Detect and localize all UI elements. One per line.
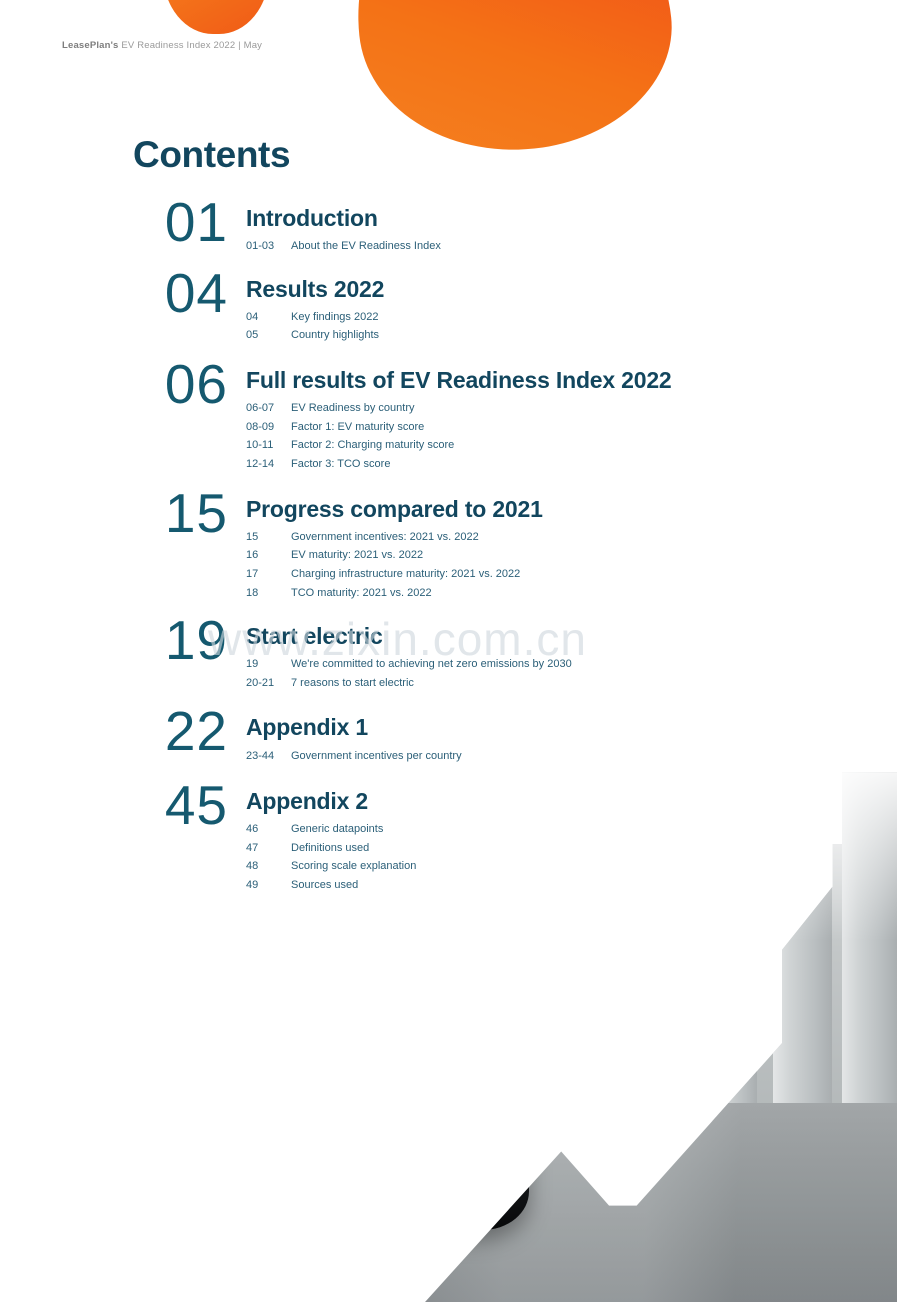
toc-section-title[interactable]: Appendix 2 [246,789,920,813]
toc-entry-pages: 12-14 [246,455,291,474]
running-header-rest: EV Readiness Index 2022 | May [119,40,263,51]
toc-entry-label: Generic datapoints [291,820,920,839]
toc-entry[interactable]: 48Scoring scale explanation [246,857,920,876]
toc-entry[interactable]: 23-44Government incentives per country [246,747,920,766]
car-roof-reflection [224,1029,502,1060]
toc-section-number: 06 [0,358,228,411]
toc-section[interactable]: 15Progress compared to 202115Government … [0,487,920,603]
document-page: LeasePlan's EV Readiness Index 2022 | Ma… [0,0,920,1302]
toc-entry-label: Scoring scale explanation [291,857,920,876]
toc-entry-label: Sources used [291,876,920,895]
toc-entry[interactable]: 04Key findings 2022 [246,308,920,327]
toc-section-body: Appendix 246Generic datapoints47Definiti… [228,779,920,895]
toc-section-number: 19 [0,614,228,667]
toc-section-body: Results 202204Key findings 202205Country… [228,267,920,345]
toc-entry[interactable]: 18TCO maturity: 2021 vs. 2022 [246,584,920,603]
orange-blob-large-icon [343,0,684,166]
toc-entry-pages: 17 [246,565,291,584]
toc-entry[interactable]: 15Government incentives: 2021 vs. 2022 [246,528,920,547]
toc-entry-pages: 19 [246,655,291,674]
toc-entry-label: We're committed to achieving net zero em… [291,655,920,674]
toc-entry-label: TCO maturity: 2021 vs. 2022 [291,584,920,603]
toc-entry-label: Factor 2: Charging maturity score [291,436,920,455]
toc-section-body: Appendix 123-44Government incentives per… [228,705,920,765]
toc-entry[interactable]: 49Sources used [246,876,920,895]
toc-entry[interactable]: 16EV maturity: 2021 vs. 2022 [246,546,920,565]
toc-entry-pages: 48 [246,857,291,876]
toc-section-title[interactable]: Results 2022 [246,277,920,301]
toc-entry-label: About the EV Readiness Index [291,237,920,256]
toc-section-body: Progress compared to 202115Government in… [228,487,920,603]
license-plate: L-546-XX [307,1173,418,1189]
toc-entry-pages: 15 [246,528,291,547]
toc-section-number: 45 [0,779,228,832]
toc-entry[interactable]: 46Generic datapoints [246,820,920,839]
toc-entry[interactable]: 01-03About the EV Readiness Index [246,237,920,256]
garage-floor [0,1103,920,1302]
toc-entry-label: Factor 1: EV maturity score [291,418,920,437]
toc-entry[interactable]: 05Country highlights [246,326,920,345]
toc-entry-label: Government incentives per country [291,747,920,766]
toc-section[interactable]: 01Introduction01-03About the EV Readines… [0,196,920,256]
toc-section-number: 04 [0,267,228,320]
page-title: Contents [133,134,290,176]
toc-entry[interactable]: 19We're committed to achieving net zero … [246,655,920,674]
toc-section-body: Introduction01-03About the EV Readiness … [228,196,920,256]
toc-entry-pages: 08-09 [246,418,291,437]
car-mirror-right [512,1087,542,1102]
toc-entry-pages: 23-44 [246,747,291,766]
toc-section-number: 01 [0,196,228,249]
toc-section-number: 15 [0,487,228,540]
running-header: LeasePlan's EV Readiness Index 2022 | Ma… [62,40,262,51]
toc-section[interactable]: 19Start electric19We're committed to ach… [0,614,920,692]
toc-entry-pages: 10-11 [246,436,291,455]
toc-entry-label: EV Readiness by country [291,399,920,418]
toc-section-body: Full results of EV Readiness Index 20220… [228,358,920,474]
toc-entry-pages: 46 [246,820,291,839]
toc-section-body: Start electric19We're committed to achie… [228,614,920,692]
toc-entry-label: 7 reasons to start electric [291,674,920,693]
toc-entry-pages: 16 [246,546,291,565]
license-plate-eu-band-icon [308,1174,323,1188]
toc-entry-label: Factor 3: TCO score [291,455,920,474]
toc-section-title[interactable]: Full results of EV Readiness Index 2022 [246,368,920,392]
toc-entry[interactable]: 17Charging infrastructure maturity: 2021… [246,565,920,584]
toc-entry[interactable]: 47Definitions used [246,839,920,858]
concrete-pillar [193,1073,232,1230]
toc-section-title[interactable]: Introduction [246,206,920,230]
toc-entry-label: Definitions used [291,839,920,858]
toc-section[interactable]: 22Appendix 123-44Government incentives p… [0,705,920,765]
car-headlight-left [204,1137,244,1147]
toc-entry-label: Country highlights [291,326,920,345]
toc-entry[interactable]: 12-14Factor 3: TCO score [246,455,920,474]
toc-entry-label: EV maturity: 2021 vs. 2022 [291,546,920,565]
toc-entry-pages: 01-03 [246,237,291,256]
toc-entry-label: Key findings 2022 [291,308,920,327]
toc-entry[interactable]: 06-07EV Readiness by country [246,399,920,418]
toc-entry-pages: 04 [246,308,291,327]
toc-entry[interactable]: 20-217 reasons to start electric [246,674,920,693]
running-header-brand: LeasePlan's [62,40,119,51]
car-headlight-right [483,1137,523,1147]
toc-entry-label: Charging infrastructure maturity: 2021 v… [291,565,920,584]
table-of-contents: 01Introduction01-03About the EV Readines… [0,196,920,911]
toc-entry[interactable]: 10-11Factor 2: Charging maturity score [246,436,920,455]
car-grille [238,1174,490,1191]
toc-section[interactable]: 45Appendix 246Generic datapoints47Defini… [0,779,920,895]
car-mirror-left [185,1087,215,1102]
toc-section-title[interactable]: Progress compared to 2021 [246,497,920,521]
toc-entry-pages: 05 [246,326,291,345]
electric-car: L-546-XX [198,1037,529,1230]
car-badge-icon [358,1161,368,1170]
toc-entry-pages: 49 [246,876,291,895]
toc-section-title[interactable]: Appendix 1 [246,715,920,739]
license-plate-text: L-546-XX [344,1176,390,1186]
toc-section[interactable]: 04Results 202204Key findings 202205Count… [0,267,920,345]
car-windshield [241,1053,486,1118]
toc-entry-label: Government incentives: 2021 vs. 2022 [291,528,920,547]
car-amber-marker [512,1170,519,1178]
toc-entry-pages: 06-07 [246,399,291,418]
toc-entry[interactable]: 08-09Factor 1: EV maturity score [246,418,920,437]
toc-entry-pages: 20-21 [246,674,291,693]
toc-section-number: 22 [0,705,228,758]
toc-entry-pages: 47 [246,839,291,858]
orange-blob-small-icon [163,0,269,34]
toc-entry-pages: 18 [246,584,291,603]
toc-section[interactable]: 06Full results of EV Readiness Index 202… [0,358,920,474]
toc-section-title[interactable]: Start electric [246,624,920,648]
